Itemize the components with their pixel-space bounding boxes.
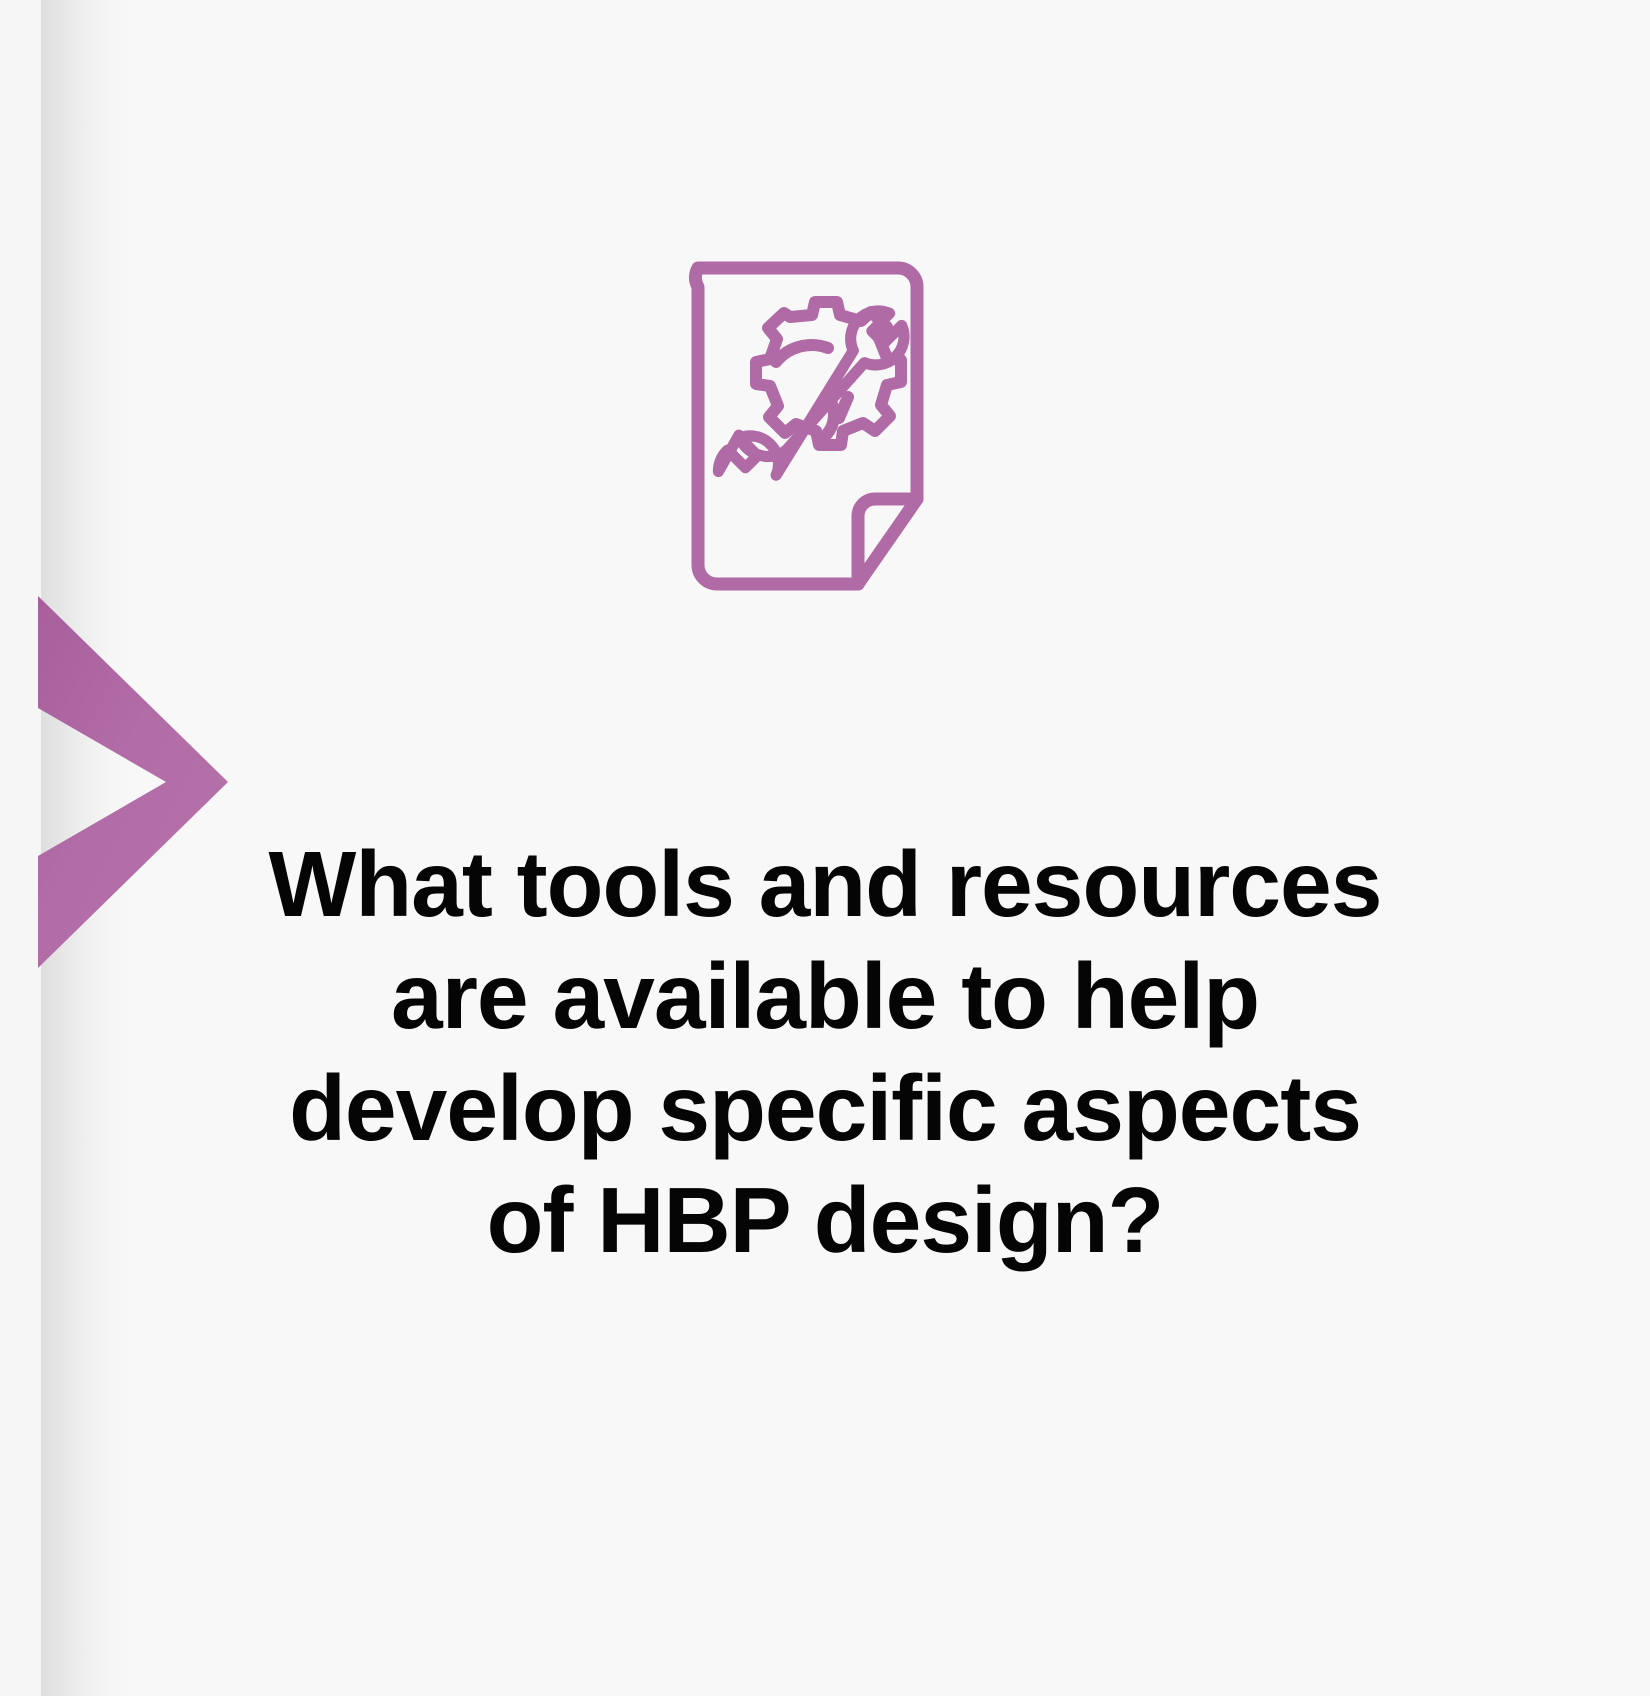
document-tools-icon bbox=[672, 247, 952, 605]
headline-line-1: What tools and resources bbox=[180, 828, 1470, 940]
page-title: What tools and resources are available t… bbox=[180, 828, 1470, 1276]
slide-canvas: What tools and resources are available t… bbox=[0, 0, 1650, 1696]
headline-line-4: of HBP design? bbox=[180, 1164, 1470, 1276]
headline-line-2: are available to help bbox=[180, 940, 1470, 1052]
headline-line-3: develop specific aspects bbox=[180, 1052, 1470, 1164]
left-edge-strip bbox=[0, 0, 41, 1696]
